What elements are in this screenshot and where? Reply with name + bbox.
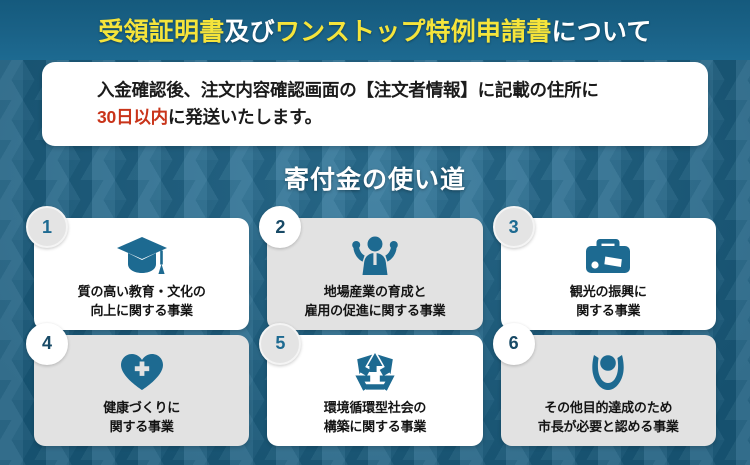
suitcase-icon (583, 233, 633, 279)
usage-card-1-label-line-1: 質の高い教育・文化の (78, 283, 206, 302)
usage-card-5-label: 環境循環型社会の 構築に関する事業 (324, 399, 426, 437)
heart-plus-icon (119, 349, 165, 395)
usage-card-4[interactable]: 4 健康づくりに 関する事業 (34, 335, 249, 447)
page-title: 受領証明書及びワンストップ特例申請書について (98, 12, 651, 48)
usage-card-4-number: 4 (26, 323, 68, 365)
usage-card-5-label-line-1: 環境循環型社会の (324, 399, 426, 418)
shipping-notice-card: 入金確認後、注文内容確認画面の【注文者情報】に記載の住所に 30日以内に発送いた… (42, 62, 708, 146)
page-title-part-3: ワンストップ特例申請書 (275, 18, 552, 46)
usage-card-2-number: 2 (259, 206, 301, 248)
usage-card-3[interactable]: 3 観光の振興に 関する事業 (501, 218, 716, 330)
graduation-cap-icon (116, 233, 168, 279)
notice-line-2-rest: に発送いたします。 (168, 107, 322, 127)
donation-usage-poster: 受領証明書及びワンストップ特例申請書について 入金確認後、注文内容確認画面の【注… (0, 0, 750, 465)
person-raised-arms-icon (351, 233, 399, 279)
usage-card-5-label-line-2: 構築に関する事業 (324, 418, 426, 437)
usage-card-4-label-line-1: 健康づくりに (103, 399, 180, 418)
usage-card-3-label: 観光の振興に 関する事業 (570, 283, 647, 321)
page-title-part-2: 及び (224, 18, 274, 46)
usage-card-1[interactable]: 1 質の高い教育・文化の 向上に関する事業 (34, 218, 249, 330)
usage-card-5[interactable]: 5 環境循環型社会の 構築に関する事業 (267, 335, 482, 447)
usage-card-grid: 1 質の高い教育・文化の 向上に関する事業 2 (26, 218, 724, 446)
usage-card-1-label-line-2: 向上に関する事業 (78, 302, 206, 321)
usage-card-2-label-line-1: 地場産業の育成と (305, 283, 446, 302)
header-band: 受領証明書及びワンストップ特例申請書について (0, 0, 750, 60)
usage-card-2-label: 地場産業の育成と 雇用の促進に関する事業 (305, 283, 446, 321)
usage-card-1-label: 質の高い教育・文化の 向上に関する事業 (78, 283, 206, 321)
usage-card-6-number: 6 (493, 323, 535, 365)
notice-line-2: 30日以内に発送いたします。 (97, 104, 708, 131)
usage-card-3-number: 3 (493, 206, 535, 248)
usage-card-3-label-line-1: 観光の振興に (570, 283, 647, 302)
section-heading: 寄付金の使い道 (0, 160, 750, 196)
usage-card-1-number: 1 (26, 206, 68, 248)
usage-card-6-label-line-2: 市長が必要と認める事業 (538, 418, 679, 437)
usage-card-5-number: 5 (259, 323, 301, 365)
usage-card-2-label-line-2: 雇用の促進に関する事業 (305, 302, 446, 321)
notice-line-1: 入金確認後、注文内容確認画面の【注文者情報】に記載の住所に (97, 77, 708, 104)
person-in-hands-icon (586, 349, 630, 395)
page-title-part-1: 受領証明書 (98, 18, 224, 46)
page-title-part-4: について (552, 18, 652, 46)
usage-card-4-label: 健康づくりに 関する事業 (103, 399, 180, 437)
usage-card-2[interactable]: 2 地場産業の育成と 雇用の促進に関する事業 (267, 218, 482, 330)
usage-card-6-label-line-1: その他目的達成のため (538, 399, 679, 418)
notice-deadline-highlight: 30日以内 (97, 107, 168, 127)
usage-card-4-label-line-2: 関する事業 (103, 418, 180, 437)
usage-card-3-label-line-2: 関する事業 (570, 302, 647, 321)
recycle-icon (352, 349, 398, 395)
usage-card-6-label: その他目的達成のため 市長が必要と認める事業 (538, 399, 679, 437)
usage-card-6[interactable]: 6 その他目的達成のため 市長が必要と認める事業 (501, 335, 716, 447)
